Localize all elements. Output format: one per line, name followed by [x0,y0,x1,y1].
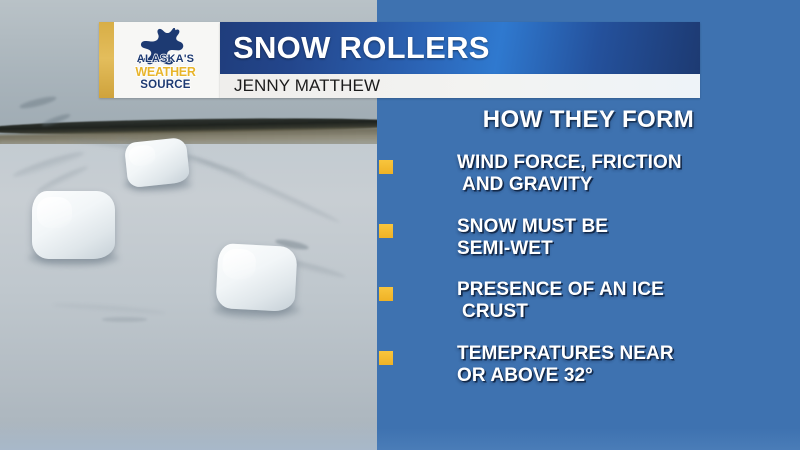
list-item-text: TEMEPRATURES NEAR OR ABOVE 32° [457,343,674,387]
logo-line-weather: WEATHER [135,66,195,79]
list-item: WIND FORCE, FRICTION AND GRAVITY [377,152,800,196]
snow-field [0,144,377,450]
logo-wordmark: ALASKA'S WEATHER SOURCE [135,54,195,91]
list-item: SNOW MUST BE SEMI-WET [377,216,800,260]
list-item: TEMEPRATURES NEAR OR ABOVE 32° [377,343,800,387]
list-item-text: SNOW MUST BE SEMI-WET [457,216,608,260]
title-bar: SNOW ROLLERS [220,22,700,74]
how-they-form-heading: HOW THEY FORM [377,106,800,134]
list-item-text: PRESENCE OF AN ICE CRUST [457,279,664,323]
list-item-text: WIND FORCE, FRICTION AND GRAVITY [457,152,682,196]
square-bullet-icon [379,351,393,365]
formation-bullet-list: WIND FORCE, FRICTION AND GRAVITY SNOW MU… [377,152,800,387]
list-item-line2: OR ABOVE 32° [457,365,674,387]
square-bullet-icon [379,160,393,174]
snow-roller [124,136,191,187]
list-item-line2: SEMI-WET [457,238,608,260]
list-item-line2: CRUST [457,301,664,323]
square-bullet-icon [379,224,393,238]
snow-field-sheen [0,422,377,450]
reporter-byline: JENNY MATTHEW [220,76,380,96]
list-item-line1: PRESENCE OF AN ICE [457,279,664,300]
logo-gold-accent-bar [99,22,114,98]
page-title: SNOW ROLLERS [220,30,490,66]
lower-third-banner: ALASKA'S WEATHER SOURCE SNOW ROLLERS JEN… [99,22,700,98]
logo-line-alaskas: ALASKA'S [135,54,195,65]
list-item-line1: SNOW MUST BE [457,216,608,237]
list-item-line1: WIND FORCE, FRICTION [457,152,682,173]
logo-line-source: SOURCE [135,80,195,92]
panel-content: HOW THEY FORM WIND FORCE, FRICTION AND G… [377,104,800,450]
list-item: PRESENCE OF AN ICE CRUST [377,279,800,323]
logo-inner: ALASKA'S WEATHER SOURCE [120,26,212,94]
snow-roller [215,243,297,312]
list-item-line1: TEMEPRATURES NEAR [457,343,674,364]
byline-bar: JENNY MATTHEW [220,74,700,98]
snow-roller [32,191,115,259]
square-bullet-icon [379,287,393,301]
station-logo: ALASKA'S WEATHER SOURCE [99,22,220,98]
snow-scuff-mark [102,317,147,322]
list-item-line2: AND GRAVITY [457,174,682,196]
broadcast-weather-graphic: HOW THEY FORM WIND FORCE, FRICTION AND G… [0,0,800,450]
